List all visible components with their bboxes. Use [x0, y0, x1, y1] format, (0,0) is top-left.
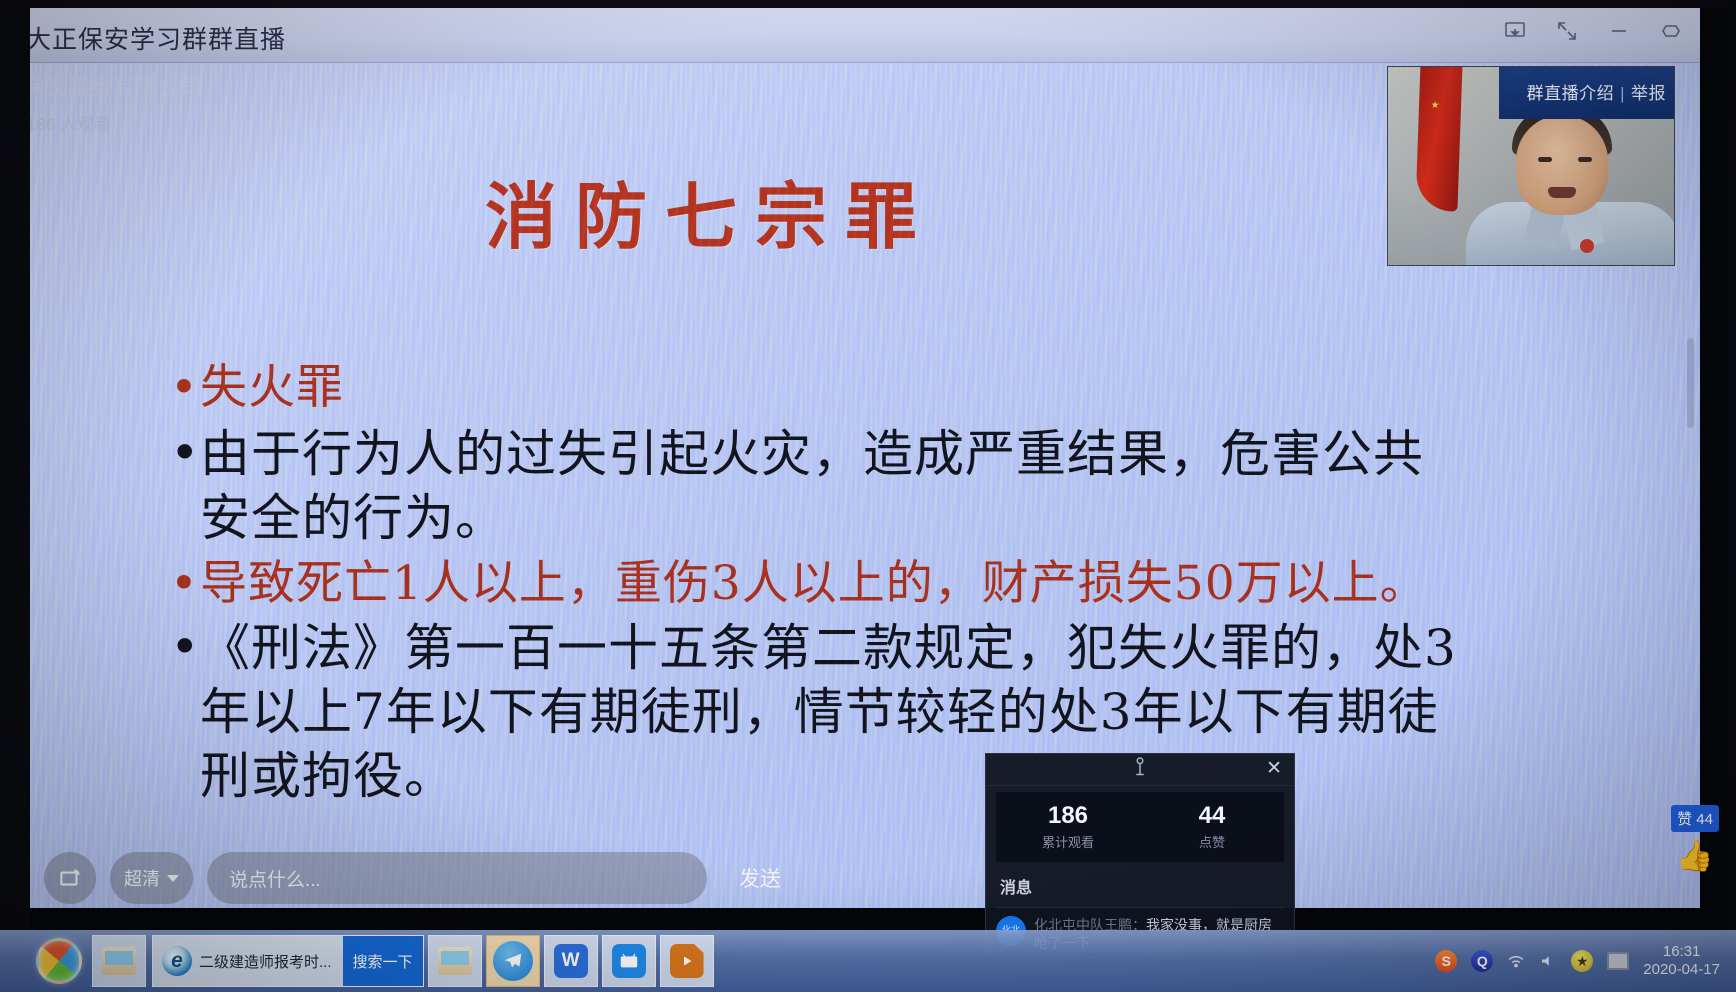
send-button[interactable]: 发送: [721, 852, 799, 904]
bullet-dot-icon: •: [170, 616, 200, 672]
window-title-bar: 西大正保安学习群群直播: [0, 8, 1700, 63]
sogou-input-icon[interactable]: S: [1435, 950, 1457, 972]
stream-info-overlay: 正保安服务有限公司 👤 186 人观看: [0, 70, 203, 135]
drag-handle-icon[interactable]: [1129, 756, 1151, 782]
stream-company-name: 正保安服务有限公司: [0, 70, 203, 102]
slide-bullet-text: 由于行为人的过失引起火灾，造成严重结果，危害公共安全的行为。: [200, 422, 1470, 550]
resize-icon[interactable]: [1554, 18, 1580, 44]
window-controls: [1502, 18, 1684, 44]
quality-selector[interactable]: 超清: [110, 852, 193, 904]
bullet-dot-icon: •: [170, 554, 200, 607]
folder-icon[interactable]: [428, 935, 482, 987]
lapel-badge: [1580, 239, 1594, 253]
stat-total-viewers: 186 累计观看: [996, 803, 1140, 850]
chat-input[interactable]: 说点什么...: [207, 852, 707, 904]
pin-window-icon[interactable]: [1502, 18, 1528, 44]
presenter-eye-left: [1538, 157, 1552, 162]
chevron-down-icon: [167, 875, 179, 882]
like-count-pill[interactable]: 赞 44: [1671, 805, 1719, 832]
slide-title: 消防七宗罪: [30, 158, 1390, 263]
security-shield-icon[interactable]: ★: [1571, 950, 1593, 972]
live-stream-window: 西大正保安学习群群直播 消防七宗罪 •: [0, 8, 1700, 908]
slide-bullet: • 导致死亡1人以上，重伤3人以上的，财产损失50万以上。: [170, 554, 1470, 614]
presenter-eye-right: [1578, 157, 1592, 162]
bullet-dot-icon: •: [170, 422, 200, 478]
bilibili-icon[interactable]: [602, 935, 656, 987]
minimize-icon[interactable]: [1606, 18, 1632, 44]
camera-banner-links: 群直播介绍|举报: [1527, 79, 1666, 104]
quality-label: 超清: [124, 865, 160, 891]
internet-explorer-icon: e: [162, 946, 192, 976]
thumbs-up-icon[interactable]: 👍: [1662, 842, 1728, 872]
clock-time: 16:31: [1643, 943, 1720, 961]
report-link[interactable]: 举报: [1631, 84, 1666, 103]
network-icon[interactable]: [1507, 954, 1525, 968]
wps-glyph: W: [554, 944, 588, 978]
window-title: 西大正保安学习群群直播: [0, 20, 286, 56]
presenter-head: [1516, 115, 1608, 215]
presenter-camera[interactable]: 群直播介绍|举报: [1387, 66, 1675, 266]
restore-icon[interactable]: [1658, 18, 1684, 44]
slide-bullet: • 失火罪: [170, 358, 1470, 418]
wps-icon[interactable]: W: [544, 935, 598, 987]
banner-separator: |: [1620, 84, 1625, 103]
monitor-bezel-top: [0, 0, 1736, 8]
monitor-bezel-right: [1728, 0, 1736, 992]
ie-window-button[interactable]: e 二级建造师报考时... 搜索一下: [152, 935, 424, 987]
search-chip[interactable]: 搜索一下: [343, 936, 423, 986]
stream-intro-link[interactable]: 群直播介绍: [1527, 84, 1615, 103]
windows-taskbar: e 二级建造师报考时... 搜索一下 W S Q: [0, 930, 1736, 992]
photographed-screen: 西大正保安学习群群直播 消防七宗罪 •: [0, 0, 1736, 992]
media-player-icon[interactable]: [660, 935, 714, 987]
qq-icon[interactable]: Q: [1471, 950, 1493, 972]
show-desktop-icon[interactable]: [1607, 952, 1629, 970]
clock-date: 2020-04-17: [1643, 961, 1720, 979]
telegram-icon[interactable]: [486, 935, 540, 987]
clock[interactable]: 16:31 2020-04-17: [1643, 943, 1720, 979]
slide-bullet: • 由于行为人的过失引起火灾，造成严重结果，危害公共安全的行为。: [170, 422, 1470, 550]
taskbar-window-title: 二级建造师报考时...: [199, 951, 332, 972]
chat-input-placeholder: 说点什么...: [229, 865, 321, 892]
windows-logo-icon: [36, 938, 82, 984]
stat-likes: 44 点赞: [1140, 803, 1284, 850]
viewer-count: 186 人观看: [27, 110, 111, 135]
system-tray: S Q ★ 16:31 2020-04-17: [1435, 943, 1736, 979]
slide-bullet-list: • 失火罪 • 由于行为人的过失引起火灾，造成严重结果，危害公共安全的行为。 •…: [170, 358, 1470, 808]
stat-value: 186: [996, 803, 1140, 828]
rotate-screen-icon[interactable]: [44, 852, 96, 904]
chinese-flag: [1415, 66, 1462, 212]
start-button[interactable]: [30, 935, 88, 987]
slide-scrollbar[interactable]: [1687, 338, 1694, 428]
bullet-dot-icon: •: [170, 358, 200, 411]
slide-bullet-text: 导致死亡1人以上，重伤3人以上的，财产损失50万以上。: [200, 554, 1470, 614]
popup-header[interactable]: ✕: [986, 754, 1294, 786]
slide-bullet-text: 失火罪: [200, 358, 1470, 418]
live-bottom-bar: 超清 说点什么... 发送: [30, 848, 1700, 908]
stat-value: 44: [1140, 803, 1284, 828]
volume-icon[interactable]: [1539, 954, 1557, 968]
monitor-bezel-left: [0, 0, 30, 992]
like-badge[interactable]: 赞 44 👍: [1662, 805, 1728, 872]
presenter-mouth: [1548, 187, 1576, 198]
explorer-icon[interactable]: [92, 935, 146, 987]
close-icon[interactable]: ✕: [1266, 759, 1282, 778]
